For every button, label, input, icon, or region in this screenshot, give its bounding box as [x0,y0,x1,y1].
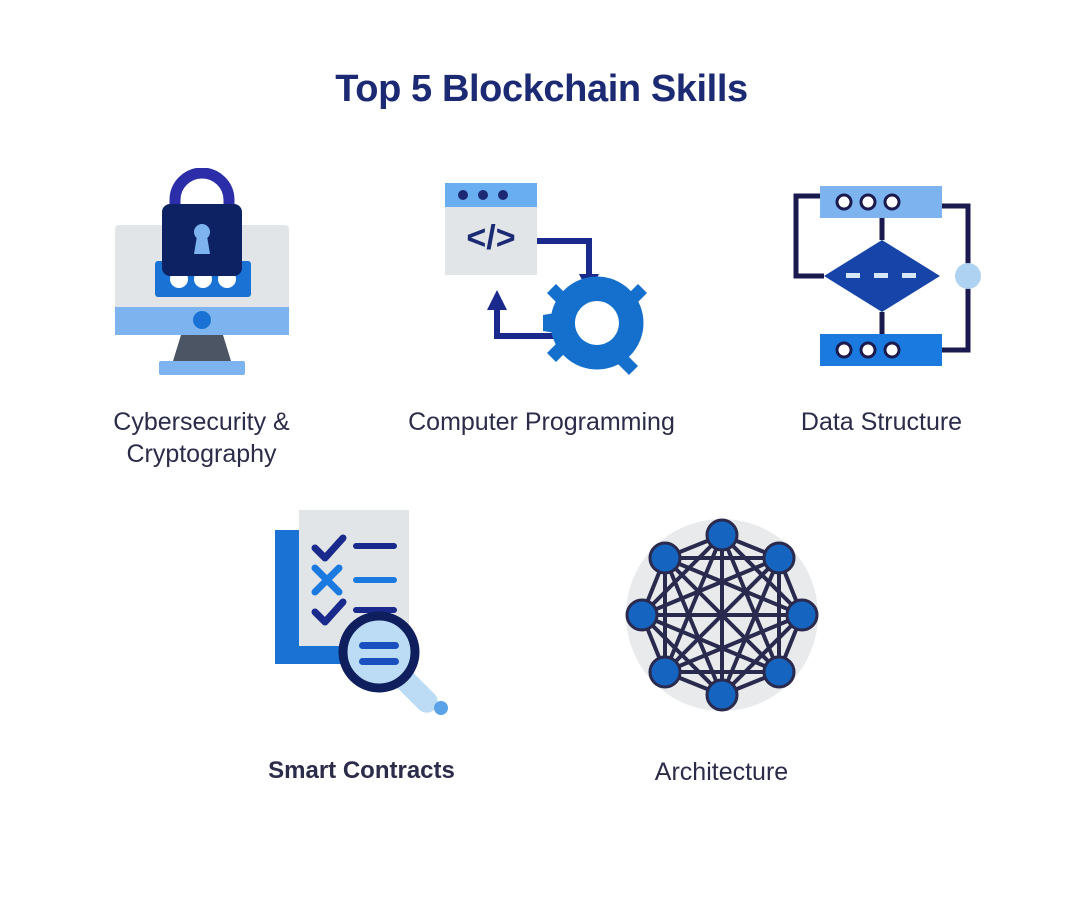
skill-label-line-1: Cybersecurity & [113,406,289,438]
skill-card-data-structure[interactable]: Data Structure [712,160,1052,438]
skill-card-smart-contracts[interactable]: Smart Contracts [182,490,542,787]
skill-label-smart-contracts: Smart Contracts [268,756,455,787]
svg-text:</>: </> [466,219,515,257]
icon-wrap-smart-contracts [257,490,467,740]
skills-row-bottom: Smart Contracts [0,490,1083,788]
skill-label-cybersecurity-cryptography: Cybersecurity & Cryptography [113,406,289,470]
network-graph-icon [622,515,822,715]
checklist-magnifier-icon [257,500,467,730]
skill-card-architecture[interactable]: Architecture [542,490,902,788]
icon-wrap-cybersecurity [107,160,297,390]
skill-label-architecture: Architecture [655,756,788,788]
infographic-canvas: Top 5 Blockchain Skills [0,0,1083,900]
icon-wrap-data-structure [782,160,982,390]
flowchart-diamond-icon [782,178,982,373]
skill-label-data-structure: Data Structure [801,406,962,438]
monitor-padlock-icon [107,168,297,383]
icon-wrap-architecture [622,490,822,740]
skill-label-line-1: Smart Contracts [268,756,455,787]
page-title: Top 5 Blockchain Skills [0,68,1083,111]
code-window-gear-icon: </> [437,173,647,378]
skill-label-line-2: Cryptography [113,438,289,470]
skills-grid: Cybersecurity & Cryptography [0,160,1083,788]
icon-wrap-computer-programming: </> [437,160,647,390]
skill-card-cybersecurity-cryptography[interactable]: Cybersecurity & Cryptography [32,160,372,470]
skills-row-top: Cybersecurity & Cryptography [0,160,1083,470]
skill-card-computer-programming[interactable]: </> [372,160,712,438]
skill-label-line-1: Computer Programming [408,406,675,438]
skill-label-line-1: Data Structure [801,406,962,438]
skill-label-line-1: Architecture [655,756,788,788]
skill-label-computer-programming: Computer Programming [408,406,675,438]
